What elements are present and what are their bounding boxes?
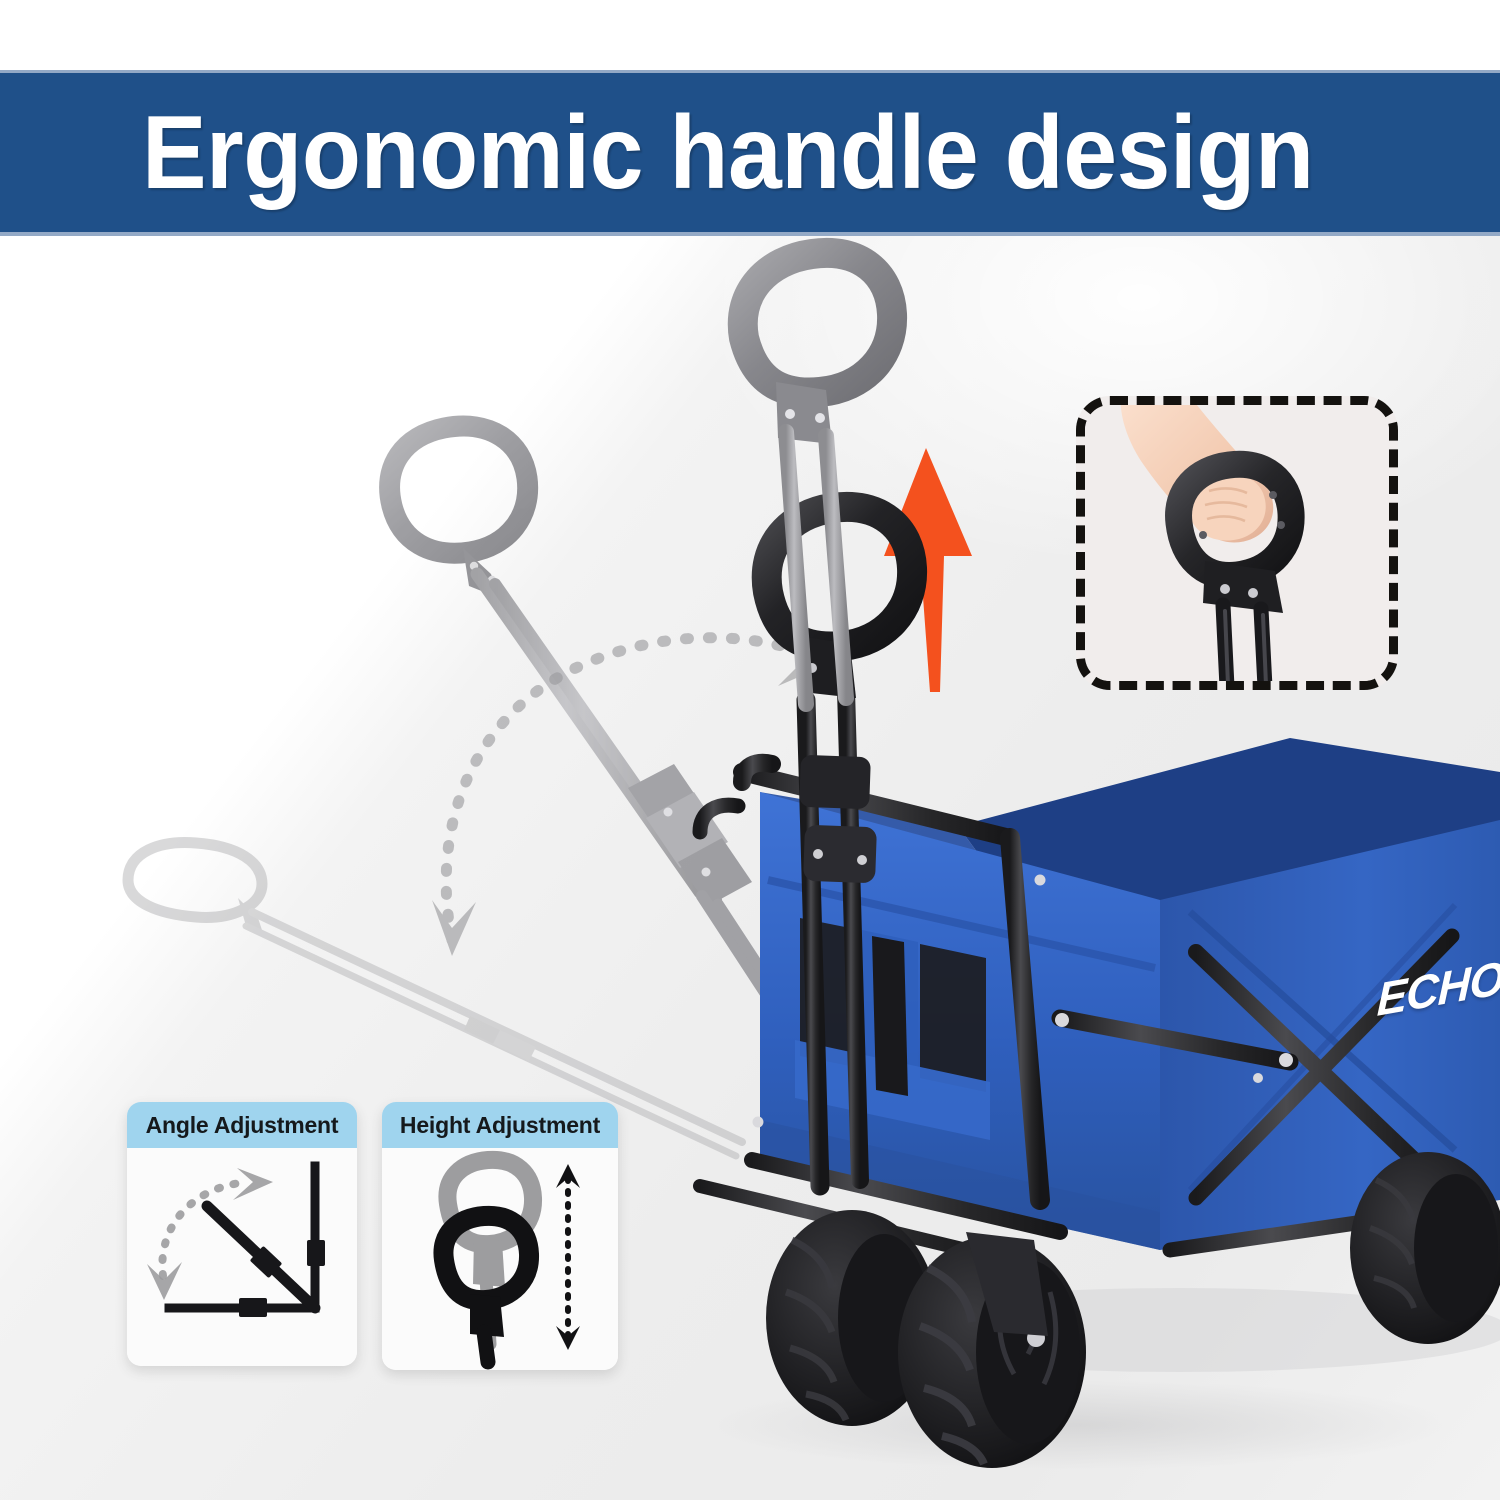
hand-grip-inset [1076, 396, 1398, 690]
height-telescoping-icon [382, 1148, 618, 1370]
hand-grip-illustration [1085, 405, 1389, 681]
page-title: Ergonomic handle design [142, 101, 1314, 205]
feature-card-height-body [382, 1148, 618, 1370]
height-double-arrow [556, 1164, 580, 1350]
feature-card-height-adjustment[interactable]: Height Adjustment [382, 1102, 618, 1370]
feature-card-angle-adjustment[interactable]: Angle Adjustment [127, 1102, 357, 1366]
feature-card-angle-header: Angle Adjustment [127, 1102, 357, 1148]
infographic-canvas: Ergonomic handle design [0, 0, 1500, 1500]
feature-card-height-header: Height Adjustment [382, 1102, 618, 1148]
angle-pivot-icon [127, 1148, 357, 1366]
title-banner: Ergonomic handle design [0, 70, 1500, 236]
feature-card-angle-body [127, 1148, 357, 1366]
wheel-rear-right [1350, 1152, 1500, 1344]
feature-card-height-label: Height Adjustment [400, 1112, 600, 1139]
feature-card-angle-label: Angle Adjustment [146, 1112, 339, 1139]
